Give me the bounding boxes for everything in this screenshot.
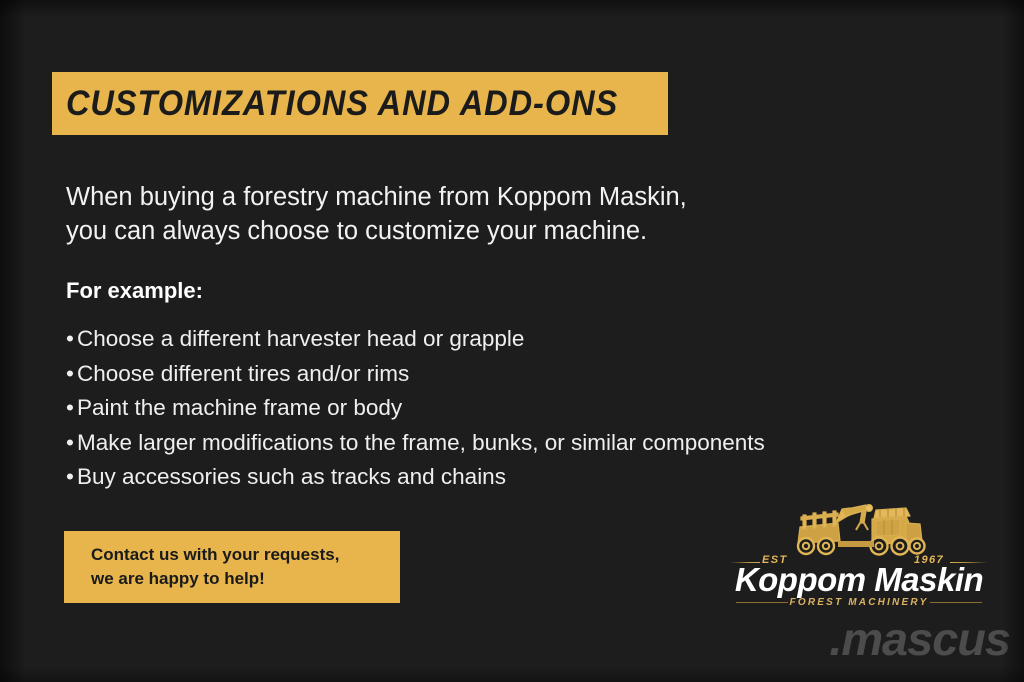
contact-cta-line-2: we are happy to help! [91, 567, 400, 591]
intro-line-2: you can always choose to customize your … [66, 214, 826, 248]
list-item: •Choose a different harvester head or gr… [66, 322, 866, 357]
customization-options-list: •Choose a different harvester head or gr… [66, 322, 866, 495]
list-item-label: Buy accessories such as tracks and chain… [77, 464, 506, 489]
list-item: •Paint the machine frame or body [66, 391, 866, 426]
contact-cta-box[interactable]: Contact us with your requests, we are ha… [64, 531, 400, 603]
contact-cta-line-1: Contact us with your requests, [91, 543, 400, 567]
bullet-icon: • [66, 460, 77, 495]
logo-wordmark: Koppom Maskin [728, 563, 990, 596]
intro-paragraph: When buying a forestry machine from Kopp… [66, 180, 826, 248]
list-item: •Buy accessories such as tracks and chai… [66, 460, 866, 495]
list-item-label: Choose different tires and/or rims [77, 361, 409, 386]
intro-line-1: When buying a forestry machine from Kopp… [66, 180, 826, 214]
bullet-icon: • [66, 322, 77, 357]
list-item: •Make larger modifications to the frame,… [66, 426, 866, 461]
list-item-label: Make larger modifications to the frame, … [77, 430, 765, 455]
mascus-watermark: .mascus [747, 612, 1010, 666]
list-item-label: Choose a different harvester head or gra… [77, 326, 524, 351]
koppom-maskin-logo: EST 1967 Koppom Maskin FOREST MACHINERY [728, 503, 990, 608]
bullet-icon: • [66, 357, 77, 392]
bullet-icon: • [66, 391, 77, 426]
page-title: CUSTOMIZATIONS AND ADD-ONS [52, 84, 618, 124]
bullet-icon: • [66, 426, 77, 461]
advertisement-slide: CUSTOMIZATIONS AND ADD-ONS When buying a… [0, 0, 1024, 682]
for-example-label: For example: [66, 278, 203, 304]
logo-tagline-rule-right [930, 602, 982, 603]
title-banner: CUSTOMIZATIONS AND ADD-ONS [52, 72, 668, 135]
list-item: •Choose different tires and/or rims [66, 357, 866, 392]
list-item-label: Paint the machine frame or body [77, 395, 402, 420]
